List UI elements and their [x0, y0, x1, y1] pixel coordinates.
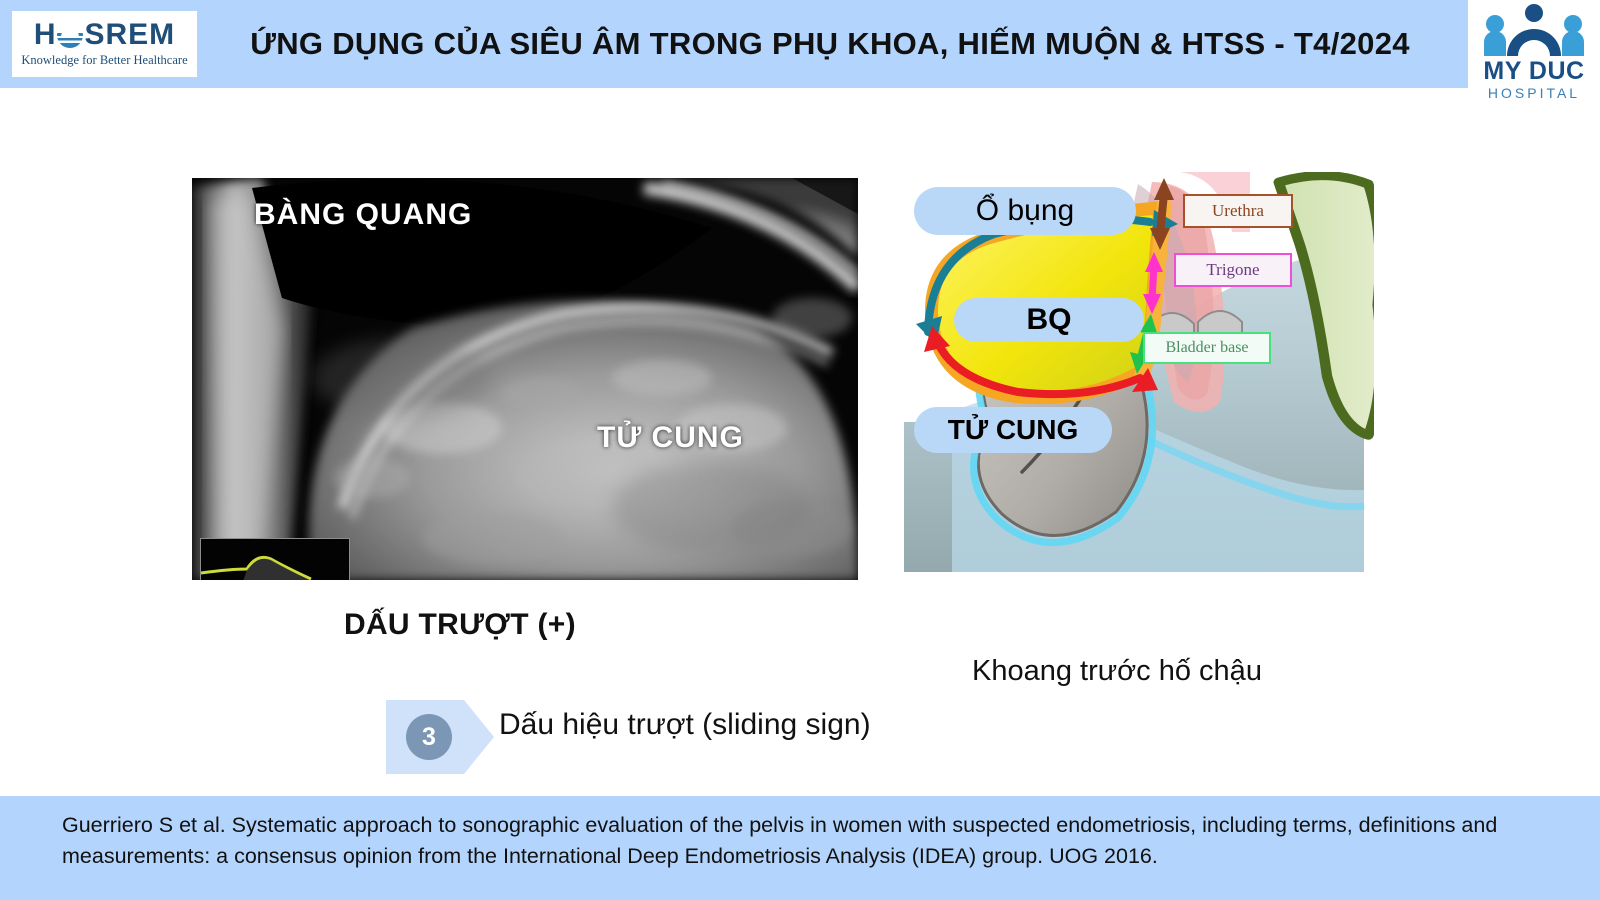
diagram-chip-bladder: BQ [954, 298, 1144, 342]
ultrasound-image: BÀNG QUANG TỬ CUNG [192, 178, 858, 580]
hosrem-logo: H SREM Knowledge for Better Healthcare [12, 11, 197, 77]
bullet-row: 3 Dấu hiệu trượt (sliding sign) [386, 700, 1086, 774]
hosrem-tagline: Knowledge for Better Healthcare [21, 53, 187, 68]
diagram-chip-abdomen: Ổ bụng [914, 187, 1136, 235]
annotation-bladder-base: Bladder base [1143, 332, 1271, 364]
bullet-number-badge: 3 [406, 714, 452, 760]
myduc-wordmark: MY DUC [1483, 59, 1584, 84]
annotation-urethra: Urethra [1183, 194, 1293, 228]
bullet-label: Dấu hiệu trượt (sliding sign) [499, 708, 871, 742]
header-band: H SREM Knowledge for Better Healthcare Ứ… [0, 0, 1600, 88]
myduc-subtitle: HOSPITAL [1488, 86, 1580, 100]
annotation-trigone: Trigone [1174, 253, 1292, 287]
ultrasound-label-bladder: BÀNG QUANG [254, 198, 472, 232]
diagram-chip-uterus: TỬ CUNG [914, 407, 1112, 453]
ultrasound-label-uterus: TỬ CUNG [597, 421, 744, 455]
caption-anterior-compartment: Khoang trước hố chậu [972, 655, 1262, 688]
hosrem-wordmark: H SREM [34, 20, 175, 50]
myduc-logo: MY DUC HOSPITAL [1468, 0, 1600, 104]
hosrem-letter-h: H [34, 20, 57, 50]
globe-icon [57, 22, 83, 48]
pelvis-diagram: Ổ bụng BQ TỬ CUNG Urethra Trigone Bladde… [902, 172, 1374, 584]
page-title: ỨNG DỤNG CỦA SIÊU ÂM TRONG PHỤ KHOA, HIẾ… [210, 0, 1450, 88]
ultrasound-inset-thumbnail [200, 538, 350, 580]
people-arch-icon [1479, 4, 1589, 58]
caption-sliding-sign-positive: DẤU TRƯỢT (+) [344, 608, 576, 642]
citation-text: Guerriero S et al. Systematic approach t… [62, 810, 1540, 871]
hosrem-letters-srem: SREM [84, 20, 175, 50]
footer-band: Guerriero S et al. Systematic approach t… [0, 796, 1600, 900]
